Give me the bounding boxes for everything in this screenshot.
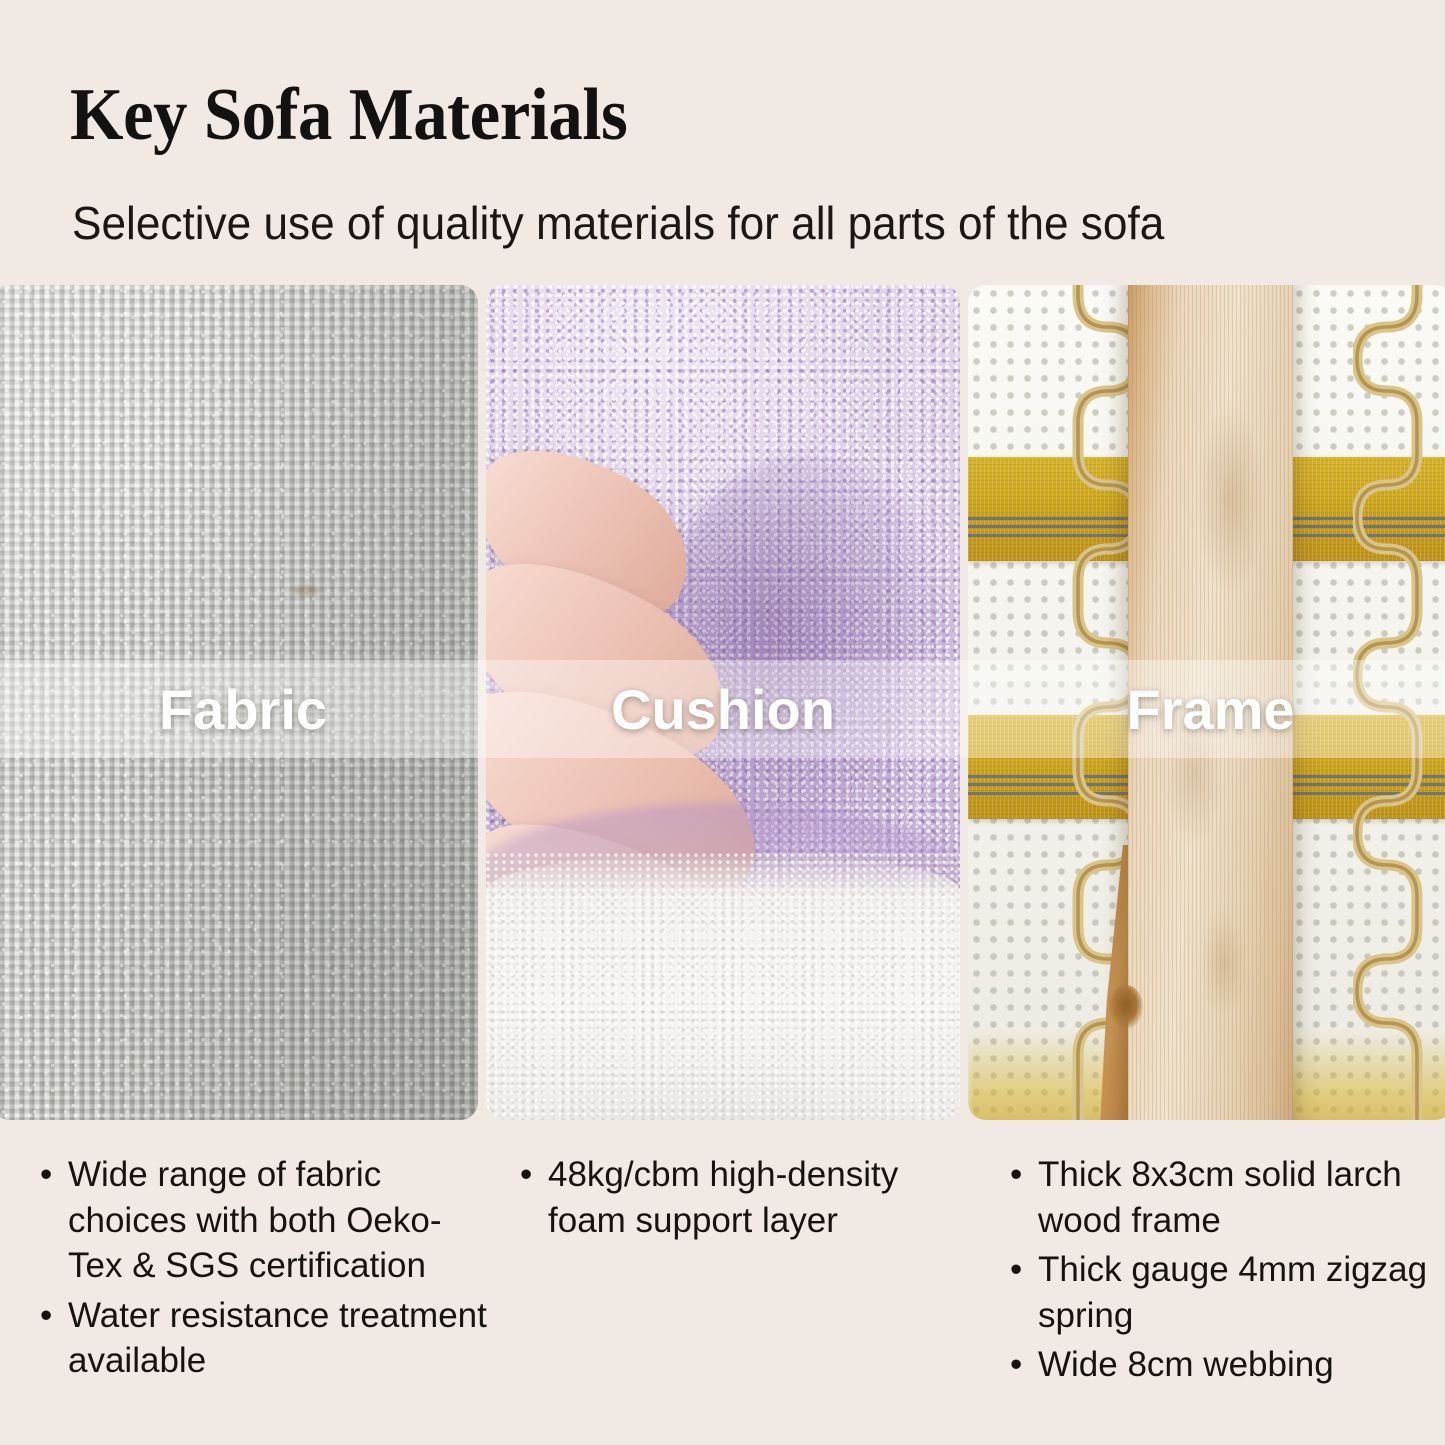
- list-item: Wide 8cm webbing: [1038, 1342, 1445, 1388]
- foam-lower-grain-texture: [486, 853, 960, 1120]
- panel-label-frame: Frame: [968, 660, 1445, 758]
- panel-label-cushion: Cushion: [486, 660, 960, 758]
- feature-bullets-row: Wide range of fabric choices with both O…: [0, 1152, 1445, 1432]
- list-item: Water resistance treatment available: [68, 1293, 490, 1384]
- bullets-fabric: Wide range of fabric choices with both O…: [30, 1152, 490, 1388]
- list-item: Thick gauge 4mm zigzag spring: [1038, 1247, 1445, 1338]
- panel-label-fabric: Fabric: [0, 660, 486, 758]
- page-subtitle: Selective use of quality materials for a…: [72, 200, 1164, 246]
- bullet-list: Wide range of fabric choices with both O…: [30, 1152, 490, 1384]
- bullets-frame: Thick 8x3cm solid larch wood frame Thick…: [1000, 1152, 1445, 1392]
- page-title: Key Sofa Materials: [70, 78, 627, 152]
- foam-lower-layer: [486, 853, 960, 1120]
- bullets-cushion: 48kg/cbm high-density foam support layer: [510, 1152, 970, 1247]
- list-item: Wide range of fabric choices with both O…: [68, 1152, 490, 1289]
- material-panels-row: Fabric Cushion Frame: [0, 285, 1445, 1120]
- bullet-list: 48kg/cbm high-density foam support layer: [510, 1152, 970, 1243]
- list-item: 48kg/cbm high-density foam support layer: [548, 1152, 970, 1243]
- bullet-list: Thick 8x3cm solid larch wood frame Thick…: [1000, 1152, 1445, 1388]
- wood-knot: [1109, 985, 1143, 1029]
- list-item: Thick 8x3cm solid larch wood frame: [1038, 1152, 1445, 1243]
